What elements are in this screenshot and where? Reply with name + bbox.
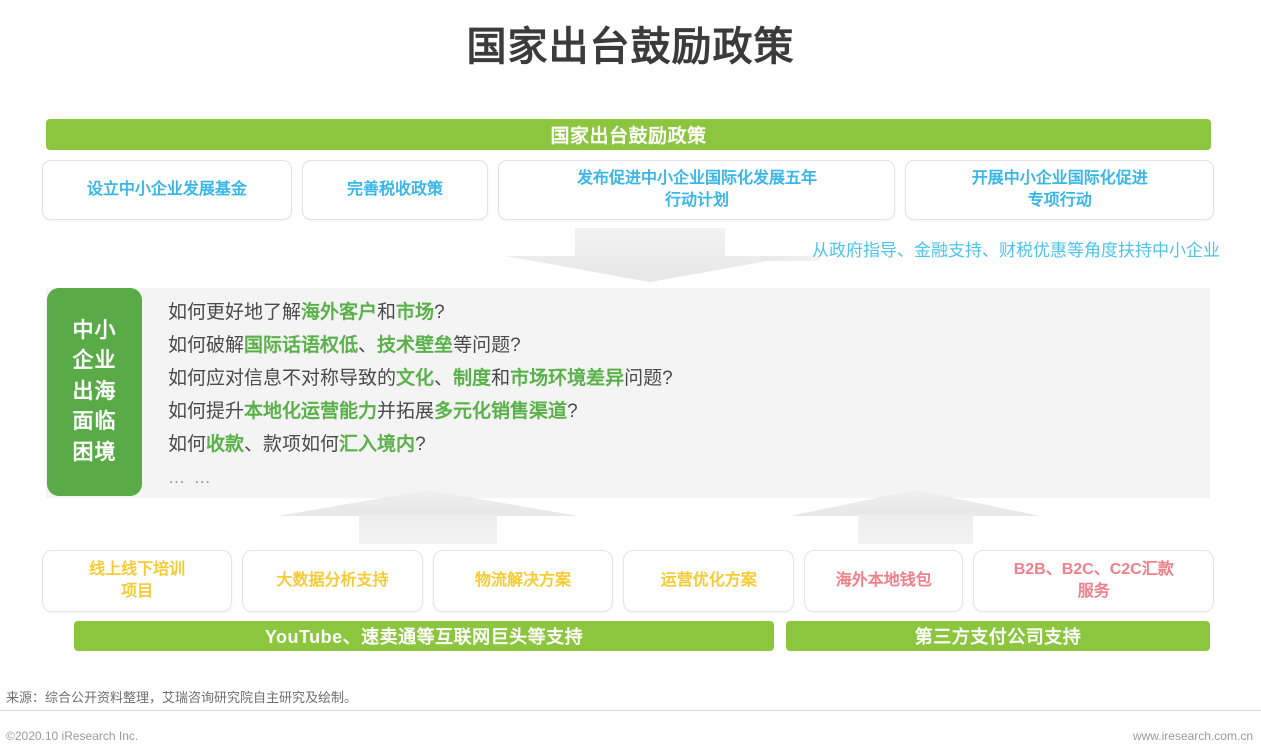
side-note: 从政府指导、金融支持、财税优惠等角度扶持中小企业 (812, 238, 1232, 264)
green-tag-difficulties: 中小 企业 出海 面临 困境 (47, 288, 142, 496)
service-box-wallet[interactable]: 海外本地钱包 (804, 550, 963, 612)
arrow-down-icon (505, 228, 795, 284)
question-text: 问题? (624, 369, 673, 388)
service-box-logistics-label: 物流解决方案 (475, 570, 571, 592)
question-text: 如何破解 (168, 336, 244, 355)
service-box-bigdata-label: 大数据分析支持 (277, 570, 389, 592)
question-text: 、 (434, 369, 453, 388)
question-text: 如何更好地了解 (168, 303, 301, 322)
policy-box-five-year-plan[interactable]: 发布促进中小企业国际化发展五年行动计划 (498, 160, 895, 220)
policy-box-tax-label: 完善税收政策 (347, 179, 443, 201)
policy-box-row: 设立中小企业发展基金 完善税收政策 发布促进中小企业国际化发展五年行动计划 开展… (42, 160, 1214, 220)
question-item: 如何收款、款项如何汇入境内? (168, 428, 1198, 461)
question-text: ? (567, 402, 578, 421)
question-highlight: 本地化运营能力 (244, 402, 377, 421)
question-highlight: 汇入境内 (339, 435, 415, 454)
arrow-up-left-head (278, 490, 578, 516)
question-highlight: 海外客户 (301, 303, 377, 322)
question-highlight: 国际话语权低 (244, 336, 358, 355)
question-highlight: 文化 (396, 369, 434, 388)
footer-divider (0, 710, 1261, 711)
green-tag-line: 企业 (73, 346, 117, 376)
question-highlight: 多元化销售渠道 (434, 402, 567, 421)
question-text: 如何应对信息不对称导致的 (168, 369, 396, 388)
service-box-remittance-label: B2B、B2C、C2C汇款服务 (1014, 559, 1174, 602)
service-box-training[interactable]: 线上线下培训项目 (42, 550, 232, 612)
question-text: 和 (377, 303, 396, 322)
arrow-up-icon-right (790, 490, 1040, 546)
arrow-up-right-head (790, 490, 1040, 516)
footer-copyright: ©2020.10 iResearch Inc. (6, 729, 138, 743)
slide-canvas: 国家出台鼓励政策 国家出台鼓励政策 设立中小企业发展基金 完善税收政策 发布促进… (0, 0, 1261, 755)
question-item: 如何破解国际话语权低、技术壁垒等问题? (168, 329, 1198, 362)
policy-box-tax[interactable]: 完善税收政策 (302, 160, 489, 220)
policy-box-special-action[interactable]: 开展中小企业国际化促进专项行动 (905, 160, 1214, 220)
green-tag-line: 面临 (73, 407, 117, 437)
question-highlight: 市场环境差异 (510, 369, 624, 388)
service-box-row: 线上线下培训项目 大数据分析支持 物流解决方案 运营优化方案 海外本地钱包 B2… (42, 550, 1214, 612)
policy-box-fund[interactable]: 设立中小企业发展基金 (42, 160, 292, 220)
note-connector-line (760, 256, 820, 261)
arrow-up-icon-left (278, 490, 578, 546)
policy-box-fund-label: 设立中小企业发展基金 (87, 179, 247, 201)
service-box-operations-label: 运营优化方案 (661, 570, 757, 592)
green-tag-line: 中小 (73, 316, 117, 346)
page-title: 国家出台鼓励政策 (0, 14, 1261, 72)
question-item: 如何应对信息不对称导致的文化、制度和市场环境差异问题? (168, 362, 1198, 395)
green-tag-line: 出海 (73, 377, 117, 407)
question-text: 如何 (168, 435, 206, 454)
policy-banner: 国家出台鼓励政策 (46, 119, 1211, 150)
green-tag-line: 困境 (73, 438, 117, 468)
arrow-up-right-shaft (858, 514, 973, 544)
service-box-logistics[interactable]: 物流解决方案 (433, 550, 614, 612)
question-text: 并拓展 (377, 402, 434, 421)
question-highlight: 市场 (396, 303, 434, 322)
service-box-training-label: 线上线下培训项目 (89, 559, 185, 602)
question-text: ? (415, 435, 426, 454)
question-highlight: 制度 (453, 369, 491, 388)
policy-box-special-action-label: 开展中小企业国际化促进专项行动 (972, 168, 1148, 211)
question-highlight: 技术壁垒 (377, 336, 453, 355)
service-box-operations[interactable]: 运营优化方案 (623, 550, 794, 612)
question-text: 、 (358, 336, 377, 355)
service-box-remittance[interactable]: B2B、B2C、C2C汇款服务 (973, 550, 1214, 612)
question-text: 如何提升 (168, 402, 244, 421)
arrow-down-head (505, 256, 795, 282)
question-text: 等问题? (453, 336, 521, 355)
service-box-wallet-label: 海外本地钱包 (836, 570, 932, 592)
question-text: ? (434, 303, 445, 322)
arrow-up-left-shaft (359, 514, 497, 544)
question-text: 、款项如何 (244, 435, 339, 454)
source-note: 来源：综合公开资料整理，艾瑞咨询研究院自主研究及绘制。 (6, 687, 357, 706)
question-list: 如何更好地了解海外客户和市场? 如何破解国际话语权低、技术壁垒等问题? 如何应对… (168, 296, 1198, 494)
question-text: 和 (491, 369, 510, 388)
bottom-bar-payment-companies: 第三方支付公司支持 (786, 621, 1210, 651)
footer-website[interactable]: www.iresearch.com.cn (1133, 729, 1253, 743)
service-box-bigdata[interactable]: 大数据分析支持 (242, 550, 423, 612)
policy-box-five-year-plan-label: 发布促进中小企业国际化发展五年行动计划 (577, 168, 817, 211)
question-highlight: 收款 (206, 435, 244, 454)
bottom-bar-internet-giants: YouTube、速卖通等互联网巨头等支持 (74, 621, 774, 651)
question-item: 如何提升本地化运营能力并拓展多元化销售渠道? (168, 395, 1198, 428)
arrow-down-shaft (575, 228, 725, 258)
question-item: 如何更好地了解海外客户和市场? (168, 296, 1198, 329)
